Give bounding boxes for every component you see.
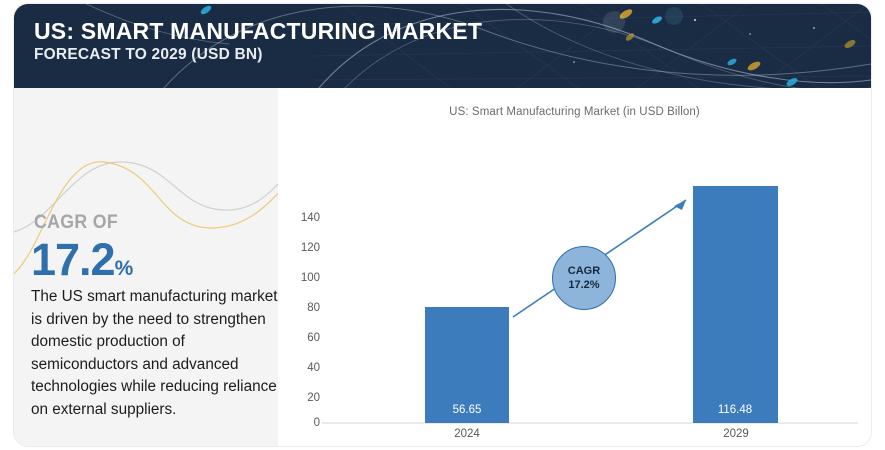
y-tick-100: 100 — [278, 272, 320, 284]
y-tick-40: 40 — [278, 362, 320, 374]
y-tick-0: 0 — [278, 417, 320, 429]
cagr-value: 17.2% — [31, 236, 133, 293]
y-tick-60: 60 — [278, 332, 320, 344]
page-subtitle: FORECAST TO 2029 (USD BN) — [34, 45, 482, 65]
cagr-callout-bubble: CAGR 17.2% — [552, 246, 616, 310]
cagr-callout-title: CAGR — [568, 264, 600, 278]
cagr-number: 17.2 — [31, 234, 115, 285]
panel-description: The US smart manufacturing market is dri… — [31, 286, 278, 422]
bar-chart: US: Smart Manufacturing Market (in USD B… — [278, 88, 871, 446]
cagr-percent-sign: % — [115, 257, 134, 280]
header-text-block: US: SMART MANUFACTURING MARKET FORECAST … — [34, 18, 482, 65]
cagr-label: CAGR OF — [34, 212, 118, 234]
y-tick-20: 20 — [278, 392, 320, 404]
bar-2029[interactable] — [693, 186, 778, 423]
bar-value-2024: 56.65 — [407, 404, 527, 416]
infographic-card: US: SMART MANUFACTURING MARKET FORECAST … — [14, 4, 871, 446]
bar-value-2029: 116.48 — [675, 404, 795, 416]
content-area: CAGR OF 17.2% The US smart manufacturing… — [14, 88, 871, 446]
x-tick-2029: 2029 — [676, 428, 796, 440]
summary-panel: CAGR OF 17.2% The US smart manufacturing… — [14, 88, 278, 446]
header-banner: US: SMART MANUFACTURING MARKET FORECAST … — [14, 4, 871, 88]
cagr-callout-value: 17.2% — [568, 278, 599, 292]
y-tick-80: 80 — [278, 302, 320, 314]
y-tick-140: 140 — [278, 212, 320, 224]
x-tick-2024: 2024 — [407, 428, 527, 440]
y-tick-120: 120 — [278, 242, 320, 254]
page-title: US: SMART MANUFACTURING MARKET — [34, 18, 482, 44]
